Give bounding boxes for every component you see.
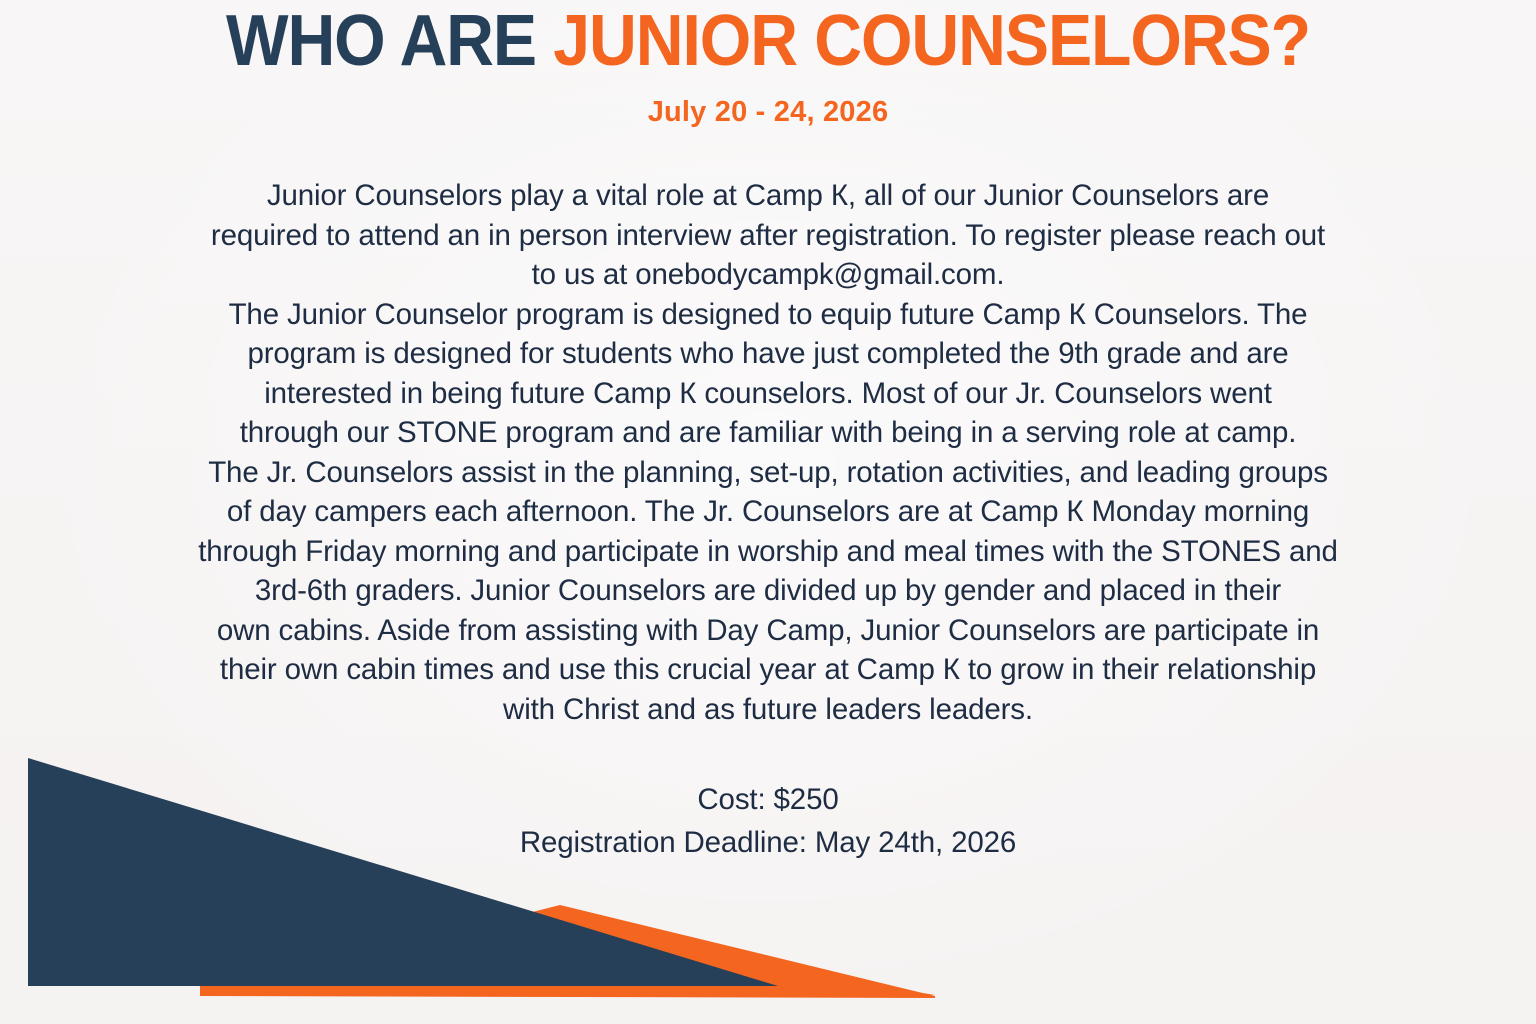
body-line: 3rd-6th graders. Junior Counselors are d…	[255, 574, 1281, 607]
body-line: of day campers each afternoon. The Jr. C…	[227, 495, 1309, 528]
paragraph-intro: Junior Counselors play a vital role at C…	[38, 176, 1498, 295]
body-line: required to attend an in person intervie…	[211, 219, 1325, 252]
orange-bar-solid	[200, 986, 880, 996]
body-line: through our STONE program and are famili…	[240, 416, 1297, 449]
decorative-corner-graphic	[0, 740, 980, 1024]
paragraph-responsibilities: The Jr. Counselors assist in the plannin…	[38, 453, 1498, 730]
paragraph-program-description: The Junior Counselor program is designed…	[38, 295, 1498, 453]
page-title-orange-part: JUNIOR COUNSELORS?	[553, 1, 1310, 81]
body-line: to us at onebodycampk@gmail.com.	[532, 258, 1005, 291]
body-line: their own cabin times and use this cruci…	[220, 653, 1316, 686]
poster-canvas: WHO ARE JUNIOR COUNSELORS? July 20 - 24,…	[0, 0, 1536, 1024]
page-title-navy-part: WHO ARE	[226, 1, 553, 81]
body-line: The Jr. Counselors assist in the plannin…	[208, 456, 1328, 489]
body-line: program is designed for students who hav…	[247, 337, 1288, 370]
orange-tail	[880, 986, 935, 996]
date-range-subtitle: July 20 - 24, 2026	[0, 96, 1536, 129]
body-line: The Junior Counselor program is designed…	[229, 298, 1308, 331]
body-line: own cabins. Aside from assisting with Da…	[217, 614, 1319, 647]
body-line: interested in being future Camp К counse…	[264, 377, 1272, 410]
page-title: WHO ARE JUNIOR COUNSELORS?	[61, 4, 1474, 80]
body-line: through Friday morning and participate i…	[198, 535, 1338, 568]
body-copy: Junior Counselors play a vital role at C…	[38, 176, 1498, 729]
body-line: with Christ and as future leaders leader…	[503, 693, 1033, 726]
body-line: Junior Counselors play a vital role at C…	[267, 179, 1269, 212]
